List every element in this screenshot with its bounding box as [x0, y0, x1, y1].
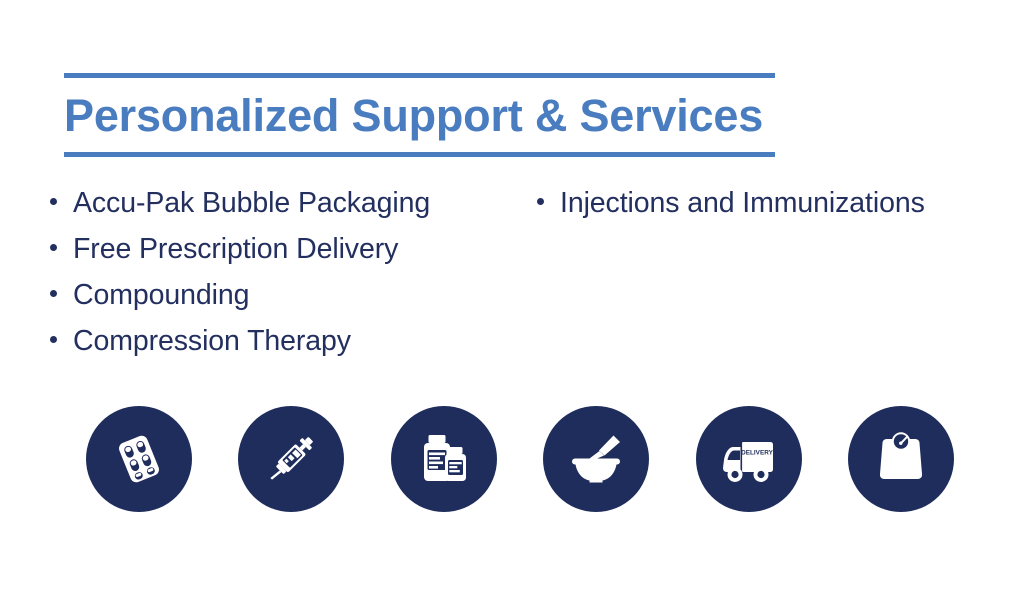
- list-item-label: Compression Therapy: [73, 318, 351, 364]
- bullet-dot-icon: [50, 198, 57, 205]
- weighing-scale-icon: [869, 427, 933, 491]
- bullet-dot-icon: [50, 336, 57, 343]
- list-item: Compression Therapy: [50, 318, 537, 364]
- blister-pack-icon: [107, 427, 171, 491]
- list-item: Accu-Pak Bubble Packaging: [50, 180, 537, 226]
- list-item: Compounding: [50, 272, 537, 318]
- mortar-and-pestle-icon: [564, 427, 628, 491]
- icon-row: DELIVERY: [86, 406, 954, 512]
- list-item-label: Accu-Pak Bubble Packaging: [73, 180, 430, 226]
- icon-badge-medicine-bottles: [391, 406, 497, 512]
- title-block: Personalized Support & Services: [64, 73, 775, 157]
- icon-badge-weighing-scale: [848, 406, 954, 512]
- bullet-dot-icon: [537, 198, 544, 205]
- delivery-van-text: DELIVERY: [741, 450, 773, 457]
- syringe-icon: [259, 427, 323, 491]
- bullet-dot-icon: [50, 244, 57, 251]
- services-column-right: Injections and Immunizations: [537, 180, 1025, 226]
- icon-badge-blister-pack: [86, 406, 192, 512]
- list-item: Injections and Immunizations: [537, 180, 1025, 226]
- page-title: Personalized Support & Services: [64, 78, 775, 152]
- delivery-van-icon: DELIVERY: [717, 427, 781, 491]
- icon-badge-mortar-and-pestle: [543, 406, 649, 512]
- bullet-dot-icon: [50, 290, 57, 297]
- list-item-label: Compounding: [73, 272, 249, 318]
- services-column-left: Accu-Pak Bubble Packaging Free Prescript…: [50, 180, 537, 364]
- medicine-bottles-icon: [412, 427, 476, 491]
- list-item: Free Prescription Delivery: [50, 226, 537, 272]
- list-item-label: Free Prescription Delivery: [73, 226, 398, 272]
- icon-badge-syringe: [238, 406, 344, 512]
- slide-canvas: Personalized Support & Services Accu-Pak…: [0, 0, 1025, 590]
- services-lists: Accu-Pak Bubble Packaging Free Prescript…: [50, 180, 1025, 364]
- title-rule-bottom: [64, 152, 775, 157]
- icon-badge-delivery-van: DELIVERY: [696, 406, 802, 512]
- list-item-label: Injections and Immunizations: [560, 180, 925, 226]
